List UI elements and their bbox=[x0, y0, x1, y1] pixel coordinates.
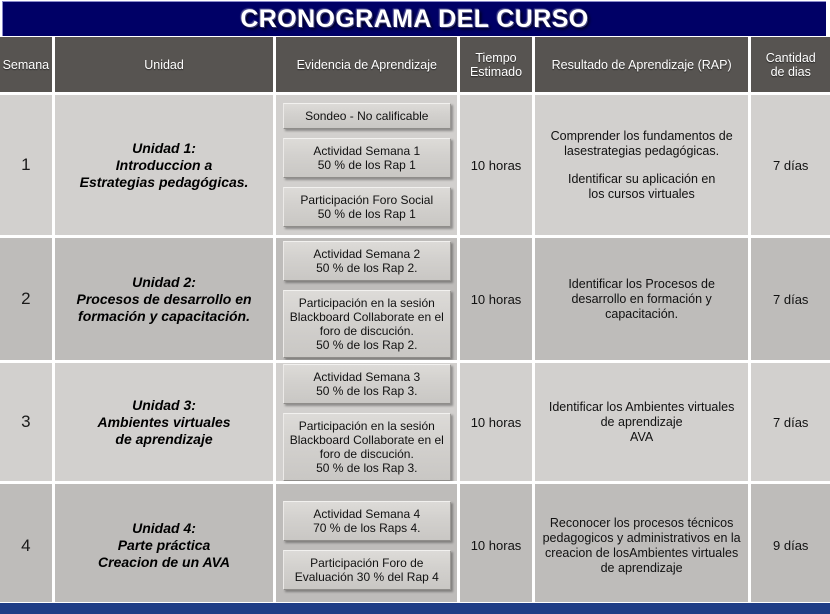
cantidad-dias-value: 9 días bbox=[773, 538, 808, 553]
cell-dias: 7 días bbox=[751, 363, 830, 481]
evidence-item[interactable]: Participación Foro de Evaluación 30 % de… bbox=[283, 550, 451, 590]
cell-dias: 7 días bbox=[751, 238, 830, 360]
unit-title: Unidad 1: Introduccion a Estrategias ped… bbox=[80, 140, 249, 191]
evidence-item-line2: Blackboard Collaborate en el bbox=[288, 310, 446, 324]
cell-unidad: Unidad 1: Introduccion a Estrategias ped… bbox=[55, 95, 274, 235]
rap-line1: Reconocer los procesos técnicos bbox=[543, 516, 741, 531]
evidence-item[interactable]: Actividad Semana 4 70 % de los Raps 4. bbox=[283, 501, 451, 541]
evidence-item-line1: Participación Foro de bbox=[288, 556, 446, 570]
table-row: 2 Unidad 2: Procesos de desarrollo en fo… bbox=[0, 238, 830, 360]
rap-text: Reconocer los procesos técnicos pedagogi… bbox=[543, 516, 741, 576]
column-header-dias-label-line1: Cantidad bbox=[766, 51, 816, 65]
column-header-dias: Cantidad de dias bbox=[751, 37, 830, 92]
rap-line4: de aprendizaje bbox=[543, 561, 741, 576]
unit-title-line1: Unidad 2: bbox=[76, 274, 251, 291]
evidence-item-line2: 70 % de los Raps 4. bbox=[288, 521, 446, 535]
cell-unidad: Unidad 4: Parte práctica Creacion de un … bbox=[55, 484, 274, 607]
cell-evidencia: Actividad Semana 2 50 % de los Rap 2. Pa… bbox=[276, 238, 457, 360]
rap-text: Identificar los Ambientes virtuales de a… bbox=[549, 400, 735, 445]
column-header-rap: Resultado de Aprendizaje (RAP) bbox=[535, 37, 749, 92]
evidence-item-line2: 50 % de los Rap 2. bbox=[288, 261, 446, 275]
unit-title-line3: de aprendizaje bbox=[98, 431, 231, 448]
evidence-item-line1: Participación en la sesión bbox=[288, 296, 446, 310]
evidence-item-line2: 50 % de los Rap 1 bbox=[288, 158, 446, 172]
cell-rap: Reconocer los procesos técnicos pedagogi… bbox=[535, 484, 749, 607]
column-header-tiempo: Tiempo Estimado bbox=[460, 37, 532, 92]
table-row: 3 Unidad 3: Ambientes virtuales de apren… bbox=[0, 363, 830, 481]
bottom-accent-bar bbox=[0, 602, 830, 614]
evidence-item-line1: Actividad Semana 4 bbox=[288, 507, 446, 521]
unit-title-line2: Procesos de desarrollo en bbox=[76, 291, 251, 308]
rap-line2: los cursos virtuales bbox=[551, 187, 733, 202]
column-header-unidad: Unidad bbox=[55, 37, 274, 92]
unit-title-line3: formación y capacitación. bbox=[76, 308, 251, 325]
evidence-list: Actividad Semana 2 50 % de los Rap 2. Pa… bbox=[280, 241, 453, 358]
week-number: 4 bbox=[21, 536, 30, 556]
rap-line2: de aprendizaje bbox=[549, 415, 735, 430]
table-row: 1 Unidad 1: Introduccion a Estrategias p… bbox=[0, 95, 830, 235]
tiempo-estimado-value: 10 horas bbox=[471, 415, 522, 430]
tiempo-estimado-value: 10 horas bbox=[471, 158, 522, 173]
cell-unidad: Unidad 2: Procesos de desarrollo en form… bbox=[55, 238, 274, 360]
evidence-item-line2: 50 % de los Rap 1 bbox=[288, 207, 446, 221]
column-header-evidencia-label: Evidencia de Aprendizaje bbox=[297, 58, 437, 72]
cell-semana: 3 bbox=[0, 363, 52, 481]
evidence-list: Actividad Semana 3 50 % de los Rap 3. Pa… bbox=[280, 364, 453, 481]
column-header-tiempo-label-line1: Tiempo bbox=[475, 51, 516, 65]
column-header-tiempo-label-line2: Estimado bbox=[470, 65, 522, 79]
unit-title-line2: Parte práctica bbox=[98, 537, 230, 554]
unit-title-line1: Unidad 4: bbox=[98, 520, 230, 537]
evidence-item[interactable]: Sondeo - No calificable bbox=[283, 103, 451, 129]
unit-title-line2: Introduccion a bbox=[80, 157, 249, 174]
evidence-item-line4: 50 % de los Rap 3. bbox=[288, 461, 446, 475]
evidence-list: Sondeo - No calificable Actividad Semana… bbox=[280, 103, 453, 227]
cantidad-dias-value: 7 días bbox=[773, 292, 808, 307]
unit-title: Unidad 3: Ambientes virtuales de aprendi… bbox=[98, 397, 231, 448]
evidence-item[interactable]: Participación Foro Social 50 % de los Ra… bbox=[283, 187, 451, 227]
evidence-item-line4: 50 % de los Rap 2. bbox=[288, 338, 446, 352]
evidence-item[interactable]: Participación en la sesión Blackboard Co… bbox=[283, 290, 451, 358]
evidence-item[interactable]: Actividad Semana 1 50 % de los Rap 1 bbox=[283, 138, 451, 178]
unit-title-line2: Ambientes virtuales bbox=[98, 414, 231, 431]
unit-title: Unidad 4: Parte práctica Creacion de un … bbox=[98, 520, 230, 571]
rap-line2: pedagogicos y administrativos en la bbox=[543, 531, 741, 546]
cell-unidad: Unidad 3: Ambientes virtuales de aprendi… bbox=[55, 363, 274, 481]
cell-tiempo: 10 horas bbox=[460, 95, 532, 235]
unit-title-line1: Unidad 1: bbox=[80, 140, 249, 157]
evidence-item-line1: Actividad Semana 3 bbox=[288, 370, 446, 384]
column-header-dias-label-line2: de dias bbox=[771, 65, 811, 79]
page-title: CRONOGRAMA DEL CURSO bbox=[240, 5, 588, 34]
rap-paragraph: Identificar su aplicación en los cursos … bbox=[551, 172, 733, 202]
week-number: 3 bbox=[21, 412, 30, 432]
cell-dias: 7 días bbox=[751, 95, 830, 235]
cell-tiempo: 10 horas bbox=[460, 363, 532, 481]
unit-title-line1: Unidad 3: bbox=[98, 397, 231, 414]
tiempo-estimado-value: 10 horas bbox=[471, 538, 522, 553]
week-number: 2 bbox=[21, 289, 30, 309]
rap-paragraph: Comprender los fundamentos de lasestrate… bbox=[551, 129, 733, 159]
rap-paragraph: Identificar los Ambientes virtuales de a… bbox=[549, 400, 735, 445]
cell-semana: 2 bbox=[0, 238, 52, 360]
rap-paragraph: Identificar los Procesos de desarrollo e… bbox=[568, 277, 715, 322]
cell-evidencia: Actividad Semana 4 70 % de los Raps 4. P… bbox=[276, 484, 457, 607]
cell-evidencia: Actividad Semana 3 50 % de los Rap 3. Pa… bbox=[276, 363, 457, 481]
cell-tiempo: 10 horas bbox=[460, 484, 532, 607]
evidence-item-line1: Participación en la sesión bbox=[288, 419, 446, 433]
tiempo-estimado-value: 10 horas bbox=[471, 292, 522, 307]
evidence-item[interactable]: Actividad Semana 3 50 % de los Rap 3. bbox=[283, 364, 451, 404]
cell-evidencia: Sondeo - No calificable Actividad Semana… bbox=[276, 95, 457, 235]
cronograma-page: CRONOGRAMA DEL CURSO Semana Unidad Evide… bbox=[0, 0, 830, 614]
column-header-evidencia: Evidencia de Aprendizaje bbox=[276, 37, 457, 92]
cell-tiempo: 10 horas bbox=[460, 238, 532, 360]
evidence-item[interactable]: Participación en la sesión Blackboard Co… bbox=[283, 413, 451, 481]
evidence-item-line2: Blackboard Collaborate en el bbox=[288, 433, 446, 447]
rap-line1: Identificar su aplicación en bbox=[551, 172, 733, 187]
schedule-table: Semana Unidad Evidencia de Aprendizaje T… bbox=[0, 37, 830, 607]
evidence-item-line1: Actividad Semana 2 bbox=[288, 247, 446, 261]
evidence-item-line1: Participación Foro Social bbox=[288, 193, 446, 207]
rap-text: Comprender los fundamentos de lasestrate… bbox=[551, 129, 733, 202]
week-number: 1 bbox=[21, 155, 30, 175]
column-header-semana-label: Semana bbox=[3, 58, 50, 72]
rap-line3: capacitación. bbox=[568, 307, 715, 322]
rap-line3: AVA bbox=[549, 430, 735, 445]
rap-paragraph: Reconocer los procesos técnicos pedagogi… bbox=[543, 516, 741, 576]
column-header-unidad-label: Unidad bbox=[144, 58, 184, 72]
column-header-semana: Semana bbox=[0, 37, 52, 92]
cell-rap: Identificar los Ambientes virtuales de a… bbox=[535, 363, 749, 481]
table-row: 4 Unidad 4: Parte práctica Creacion de u… bbox=[0, 484, 830, 607]
rap-line1: Identificar los Procesos de bbox=[568, 277, 715, 292]
rap-line2: desarrollo en formación y bbox=[568, 292, 715, 307]
rap-line3: creacion de losAmbientes virtuales bbox=[543, 546, 741, 561]
unit-title-line3: Estrategias pedagógicas. bbox=[80, 174, 249, 191]
evidence-list: Actividad Semana 4 70 % de los Raps 4. P… bbox=[280, 501, 453, 590]
cell-dias: 9 días bbox=[751, 484, 830, 607]
table-header-row: Semana Unidad Evidencia de Aprendizaje T… bbox=[0, 37, 830, 92]
rap-line1: Identificar los Ambientes virtuales bbox=[549, 400, 735, 415]
evidence-item-line3: foro de discución. bbox=[288, 447, 446, 461]
evidence-item[interactable]: Actividad Semana 2 50 % de los Rap 2. bbox=[283, 241, 451, 281]
evidence-item-line1: Actividad Semana 1 bbox=[288, 144, 446, 158]
cantidad-dias-value: 7 días bbox=[773, 415, 808, 430]
title-banner: CRONOGRAMA DEL CURSO bbox=[2, 1, 826, 36]
evidence-item-line2: 50 % de los Rap 3. bbox=[288, 384, 446, 398]
cell-semana: 1 bbox=[0, 95, 52, 235]
evidence-item-line3: foro de discución. bbox=[288, 324, 446, 338]
cell-rap: Identificar los Procesos de desarrollo e… bbox=[535, 238, 749, 360]
evidence-item-line2: Evaluación 30 % del Rap 4 bbox=[288, 570, 446, 584]
cell-rap: Comprender los fundamentos de lasestrate… bbox=[535, 95, 749, 235]
unit-title-line3: Creacion de un AVA bbox=[98, 554, 230, 571]
evidence-item-line1: Sondeo - No calificable bbox=[288, 109, 446, 123]
cantidad-dias-value: 7 días bbox=[773, 158, 808, 173]
rap-line2: lasestrategias pedagógicas. bbox=[551, 144, 733, 159]
column-header-rap-label: Resultado de Aprendizaje (RAP) bbox=[552, 58, 732, 72]
rap-line1: Comprender los fundamentos de bbox=[551, 129, 733, 144]
unit-title: Unidad 2: Procesos de desarrollo en form… bbox=[76, 274, 251, 325]
rap-text: Identificar los Procesos de desarrollo e… bbox=[568, 277, 715, 322]
cell-semana: 4 bbox=[0, 484, 52, 607]
